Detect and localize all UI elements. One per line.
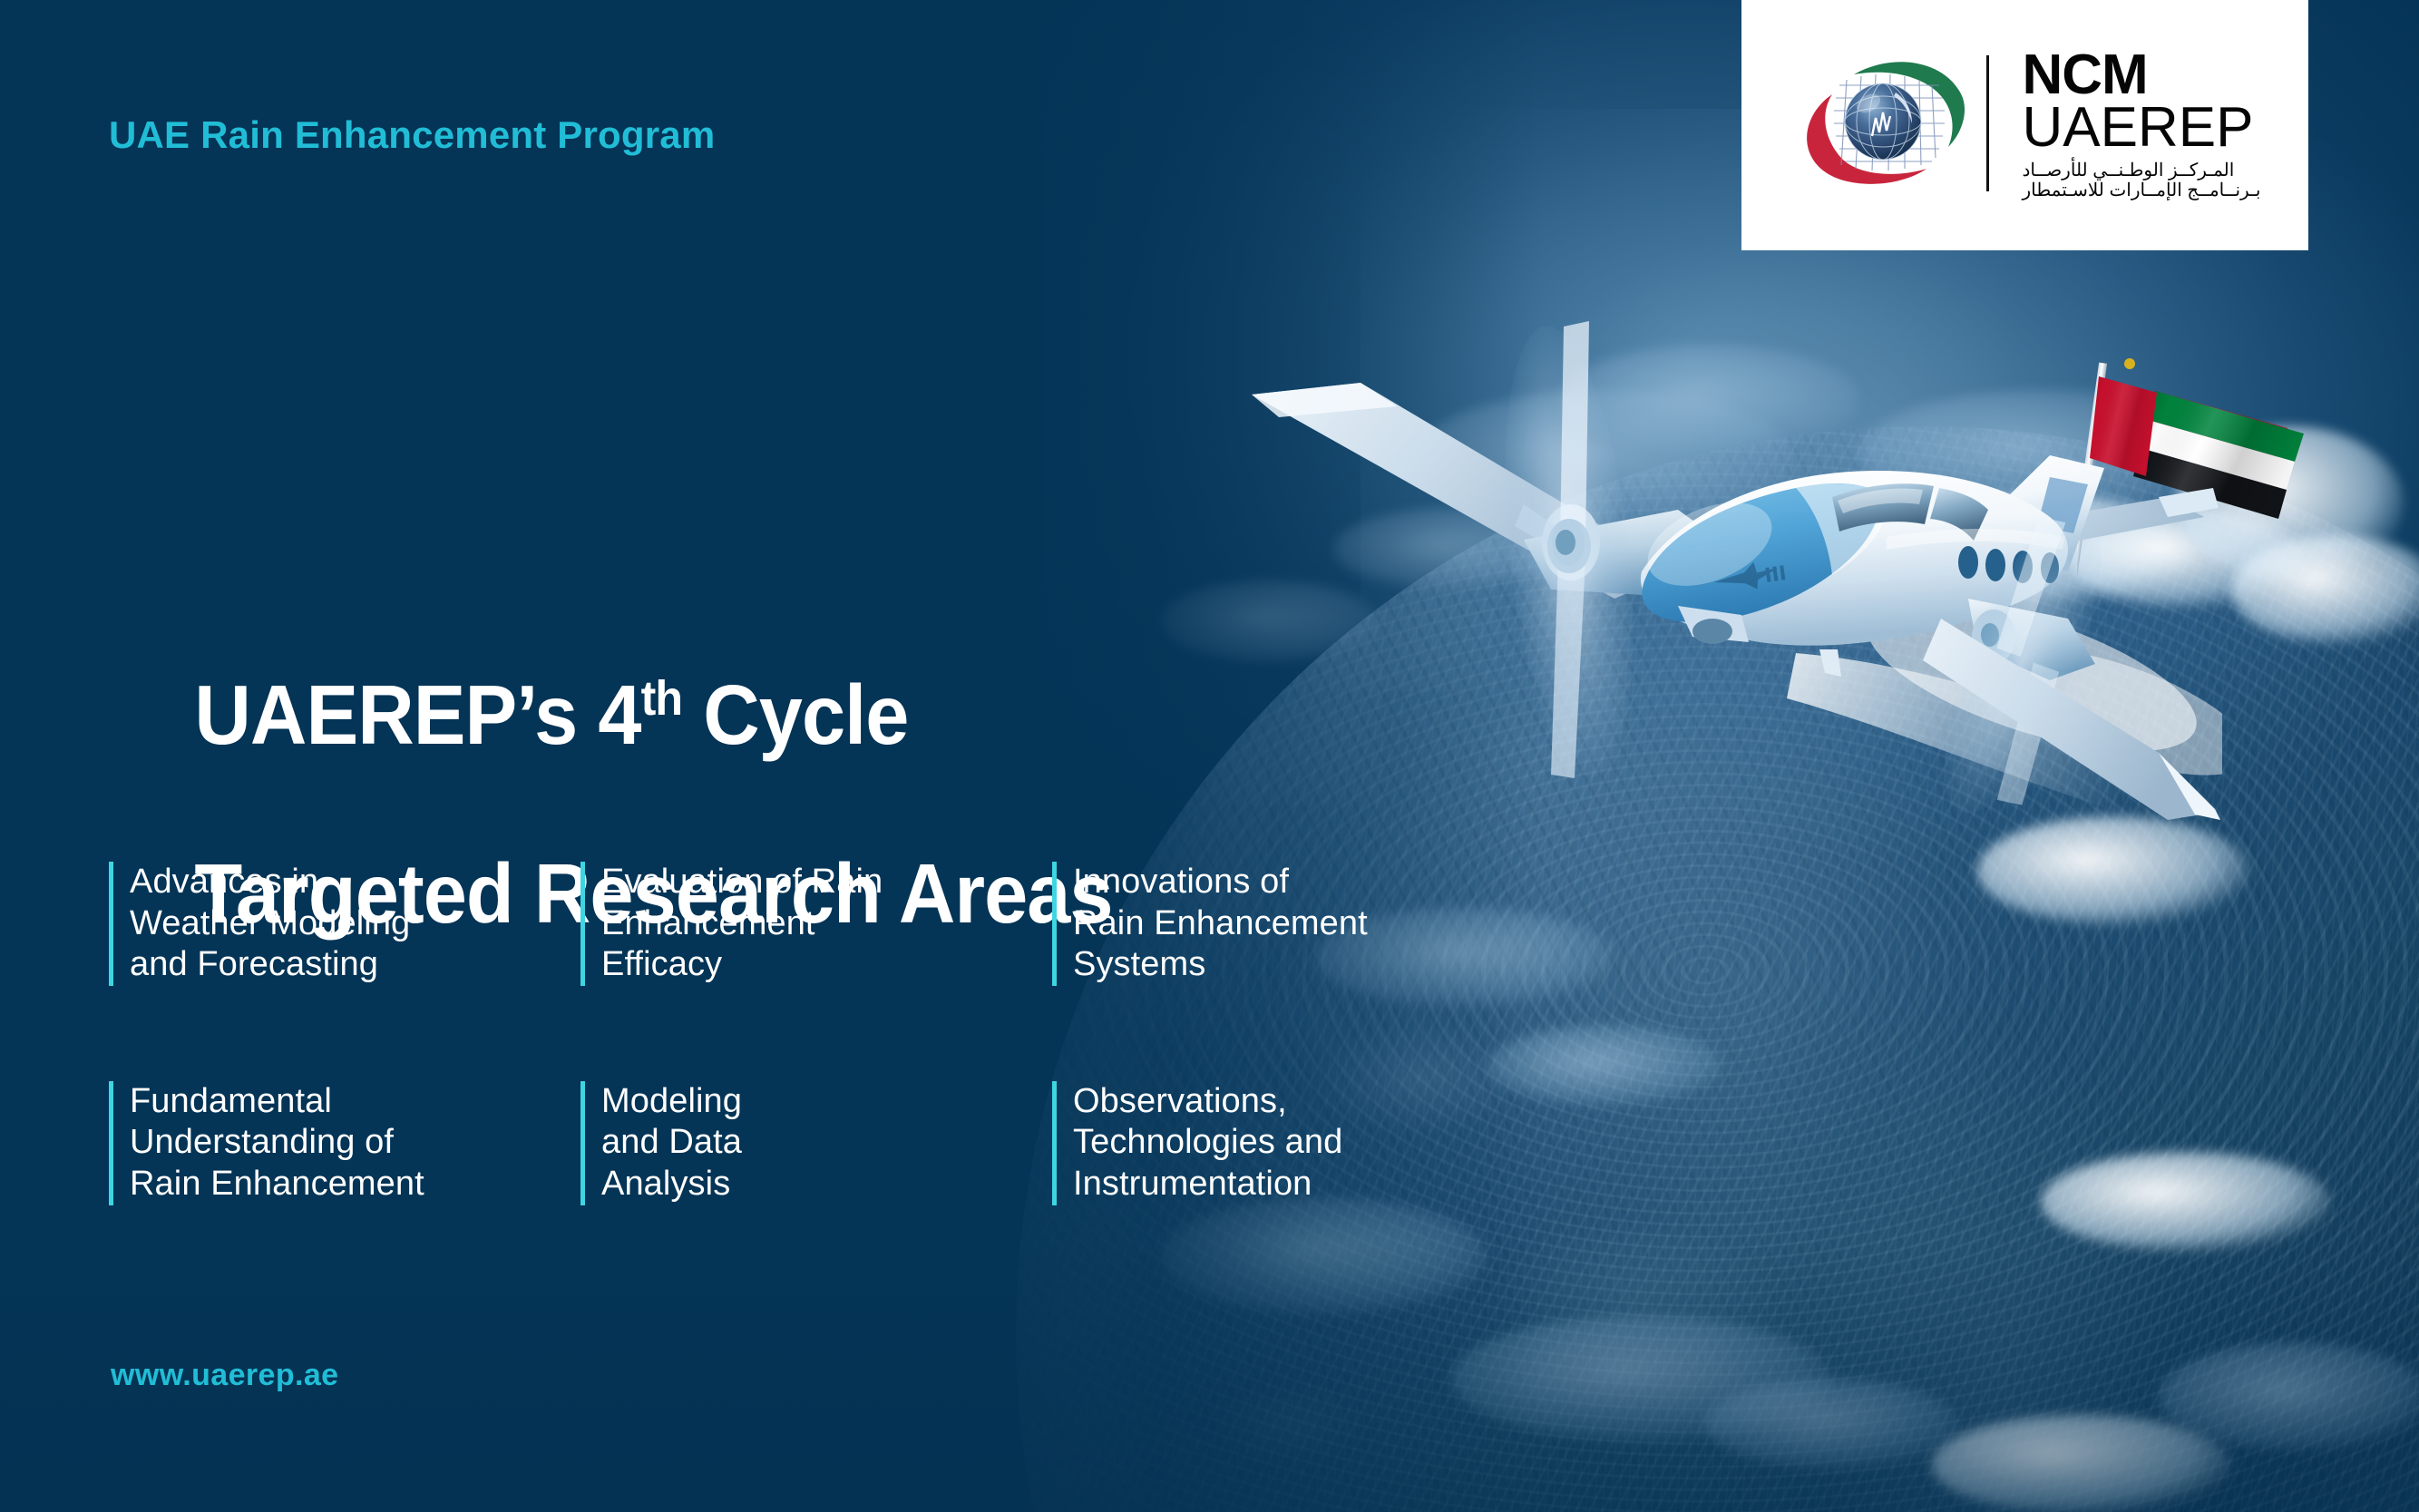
accent-bar bbox=[109, 862, 113, 986]
research-area-label: Fundamental Understanding of Rain Enhanc… bbox=[130, 1081, 424, 1205]
ncm-uaerep-logo: NCM UAEREP المـركــز الوطـنــي للأرصــاد… bbox=[1741, 0, 2308, 250]
research-area-label: Modeling and Data Analysis bbox=[601, 1081, 742, 1205]
headline-ordinal-suffix: th bbox=[641, 671, 683, 726]
cloud bbox=[1932, 1415, 2231, 1512]
program-title: UAE Rain Enhancement Program bbox=[109, 113, 715, 157]
research-area-label: Evaluation of Rain Enhancement Efficacy bbox=[601, 862, 883, 986]
headline-line-1-post: Cycle bbox=[682, 668, 908, 762]
research-area-label: Innovations of Rain Enhancement Systems bbox=[1073, 862, 1368, 986]
bottom-fade-overlay bbox=[0, 1240, 2419, 1512]
logo-ncm-text: NCM bbox=[2022, 47, 2147, 103]
accent-bar bbox=[580, 1081, 585, 1205]
accent-bar bbox=[1052, 1081, 1057, 1205]
headline-line-1-pre: UAEREP’s 4 bbox=[194, 668, 640, 762]
logo-divider bbox=[1986, 55, 1989, 191]
research-area-label: Observations, Technologies and Instrumen… bbox=[1073, 1081, 1342, 1205]
research-area-item[interactable]: Observations, Technologies and Instrumen… bbox=[1052, 1081, 1524, 1205]
logo-uaerep-text: UAEREP bbox=[2022, 100, 2253, 156]
website-url[interactable]: www.uaerep.ae bbox=[111, 1358, 338, 1393]
poster-canvas: UAE Rain Enhancement Program bbox=[0, 0, 2419, 1512]
cloud bbox=[1451, 1315, 1832, 1442]
globe-grid-icon bbox=[1789, 47, 1966, 200]
aircraft-illustration bbox=[1252, 299, 2222, 862]
research-area-label: Advances in Weather Modeling and Forecas… bbox=[130, 862, 410, 986]
accent-bar bbox=[580, 862, 585, 986]
research-areas-row-1: Advances in Weather Modeling and Forecas… bbox=[109, 862, 1524, 986]
research-areas-grid: Advances in Weather Modeling and Forecas… bbox=[109, 862, 1524, 1205]
research-area-item[interactable]: Advances in Weather Modeling and Forecas… bbox=[109, 862, 580, 986]
research-area-item[interactable]: Fundamental Understanding of Rain Enhanc… bbox=[109, 1081, 580, 1205]
accent-bar bbox=[1052, 862, 1057, 986]
cloud bbox=[2159, 1342, 2419, 1451]
research-areas-row-2: Fundamental Understanding of Rain Enhanc… bbox=[109, 1081, 1524, 1205]
cloud bbox=[1705, 1379, 1959, 1469]
logo-arabic-line-1: المـركــز الوطـنــي للأرصــاد bbox=[2022, 161, 2234, 180]
research-area-item[interactable]: Evaluation of Rain Enhancement Efficacy bbox=[580, 862, 1052, 986]
cloud bbox=[2041, 1152, 2331, 1252]
headline-line-1: UAEREP’s 4th Cycle bbox=[194, 668, 908, 762]
logo-arabic-line-2: بـرنــامــج الإمــارات للاسـتمطار bbox=[2022, 181, 2260, 200]
research-area-item[interactable]: Modeling and Data Analysis bbox=[580, 1081, 1052, 1205]
accent-bar bbox=[109, 1081, 113, 1205]
cloud bbox=[1161, 1197, 1487, 1315]
research-area-item[interactable]: Innovations of Rain Enhancement Systems bbox=[1052, 862, 1524, 986]
